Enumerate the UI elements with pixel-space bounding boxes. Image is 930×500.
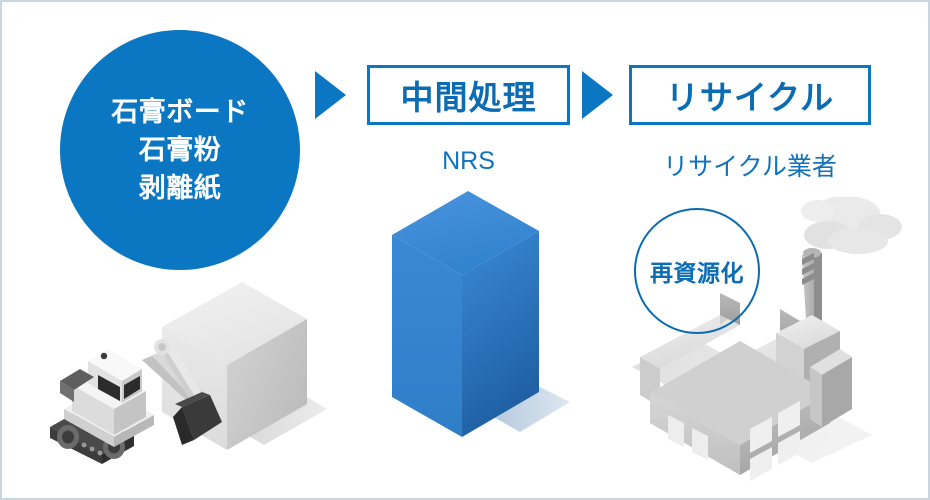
- arrow-right-icon-intermediate-to-recycle: [582, 71, 613, 119]
- source-line-2: 石膏粉: [139, 131, 222, 169]
- stage-sublabel-intermediate: NRS: [367, 147, 570, 176]
- source-materials-circle: 石膏ボード 石膏粉 剥離紙: [60, 30, 300, 270]
- stage-sublabel-recycle: リサイクル業者: [629, 147, 871, 183]
- stage-box-intermediate: 中間処理: [367, 65, 570, 125]
- stage-box-recycle: リサイクル: [629, 65, 871, 125]
- recycle-bubble-label: 再資源化: [650, 254, 744, 288]
- source-line-3: 剥離紙: [139, 169, 222, 207]
- excavator-body: [50, 349, 154, 464]
- recycle-bubble: 再資源化: [634, 208, 760, 334]
- illustration-blue-plant-building: [372, 187, 602, 477]
- stage-label-intermediate: 中間処理: [401, 71, 537, 119]
- illustration-excavator-waste-cube: [42, 257, 362, 492]
- factory-smoke: [801, 197, 902, 254]
- source-line-1: 石膏ボード: [111, 93, 249, 131]
- stage-label-recycle: リサイクル: [666, 71, 834, 119]
- arrow-right-icon-source-to-intermediate: [315, 71, 346, 119]
- diagram-canvas: 石膏ボード 石膏粉 剥離紙 中間処理 NRS リサイクル リサイクル業者: [0, 0, 930, 500]
